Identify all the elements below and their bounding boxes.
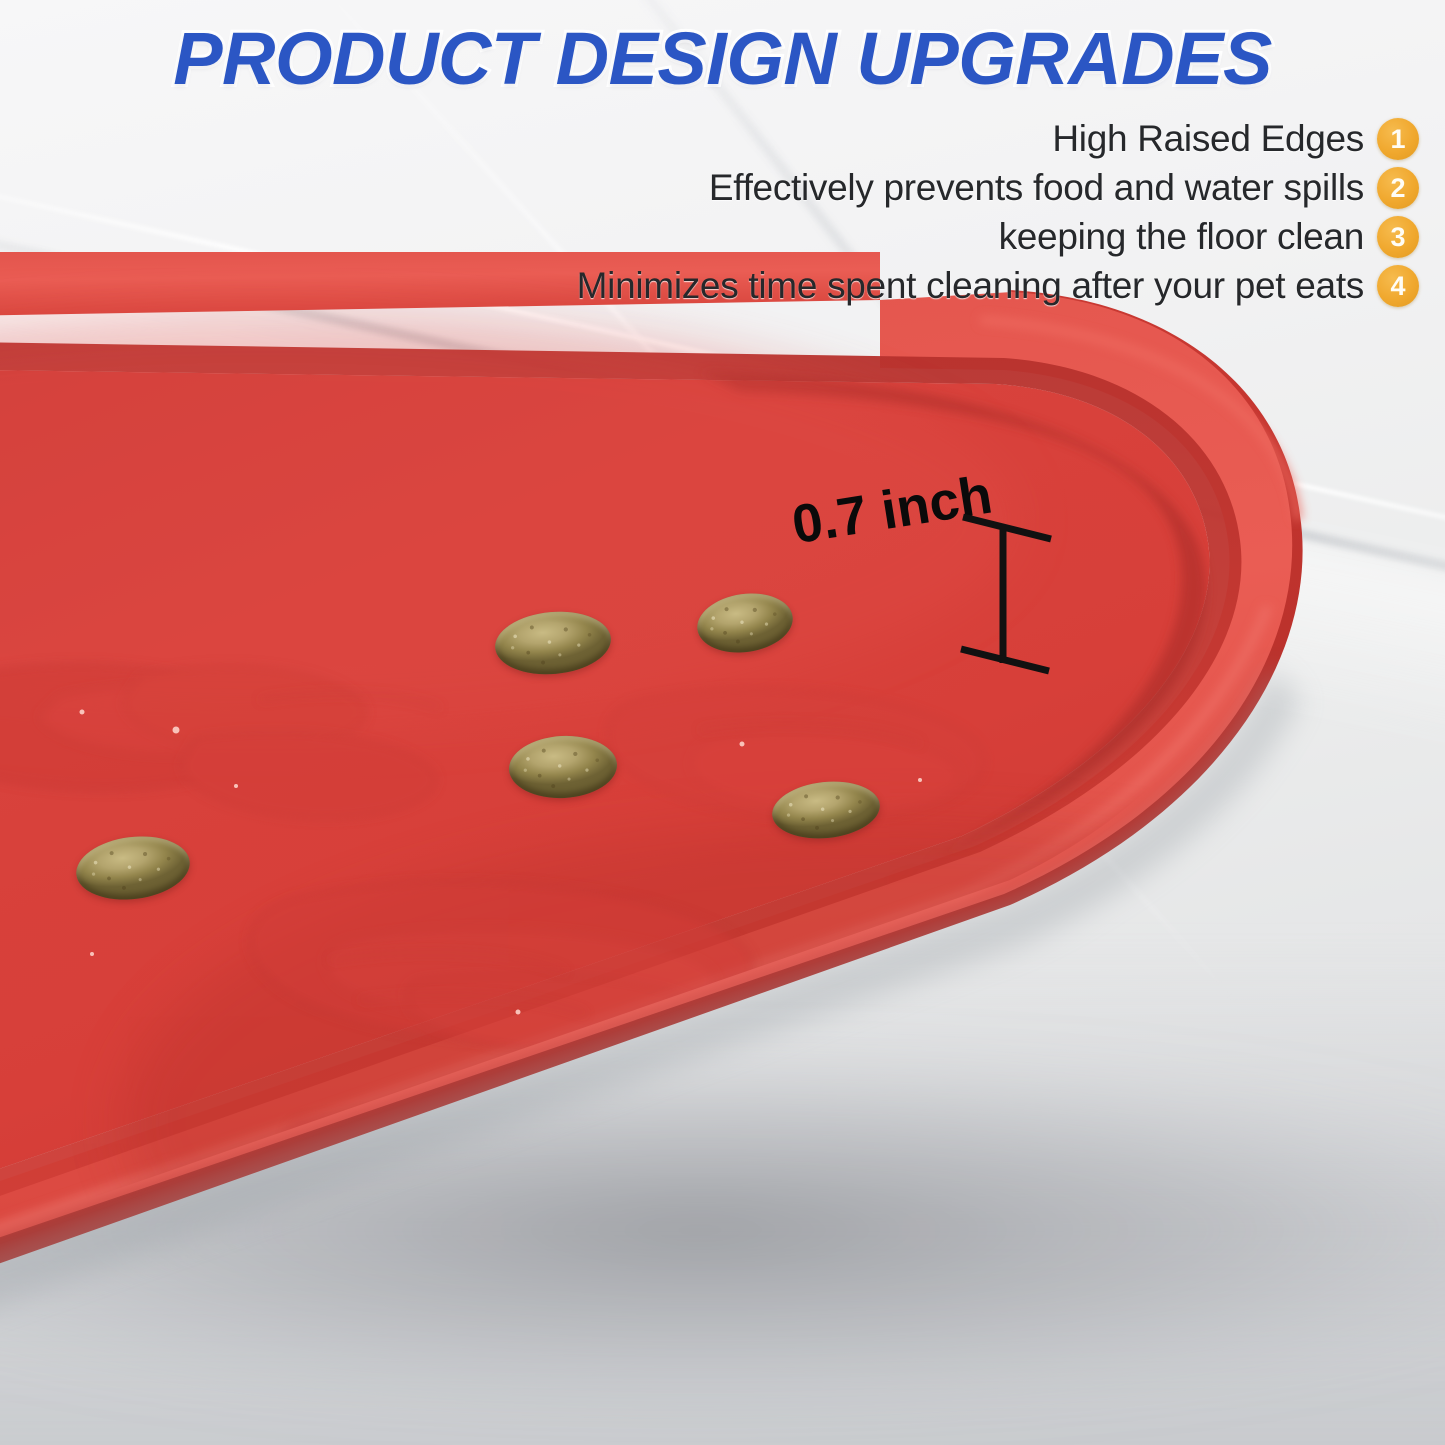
- feature-label: Effectively prevents food and water spil…: [709, 167, 1364, 209]
- dimension-beam-icon: [955, 495, 1065, 685]
- feature-number-badge: 4: [1377, 265, 1419, 307]
- feature-number-badge: 2: [1377, 167, 1419, 209]
- feature-item-3: keeping the floor clean 3: [999, 216, 1419, 258]
- feature-list: High Raised Edges 1 Effectively prevents…: [519, 118, 1419, 307]
- product-infographic: PRODUCT DESIGN UPGRADES High Raised Edge…: [0, 0, 1445, 1445]
- feature-number-badge: 1: [1377, 118, 1419, 160]
- feature-item-1: High Raised Edges 1: [1052, 118, 1419, 160]
- feature-number-badge: 3: [1377, 216, 1419, 258]
- feature-label: Minimizes time spent cleaning after your…: [577, 265, 1364, 307]
- feature-label: keeping the floor clean: [999, 216, 1364, 258]
- feature-item-2: Effectively prevents food and water spil…: [709, 167, 1419, 209]
- page-title: PRODUCT DESIGN UPGRADES: [0, 16, 1445, 101]
- feature-label: High Raised Edges: [1052, 118, 1364, 160]
- floor-shading: [0, 945, 1445, 1445]
- feature-item-4: Minimizes time spent cleaning after your…: [577, 265, 1419, 307]
